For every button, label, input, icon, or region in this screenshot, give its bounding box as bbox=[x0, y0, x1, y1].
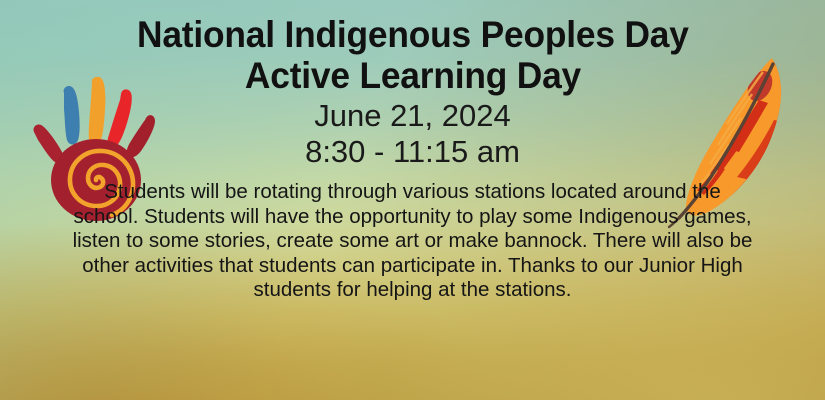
event-description: Students will be rotating through variou… bbox=[0, 180, 825, 303]
description-line-1: Students will be rotating through variou… bbox=[8, 180, 817, 205]
description-line-4: other activities that students can parti… bbox=[8, 254, 817, 279]
page-title-line-2: Active Learning Day bbox=[244, 55, 580, 96]
event-date: June 21, 2024 bbox=[314, 98, 511, 134]
description-line-3: listen to some stories, create some art … bbox=[8, 229, 817, 254]
event-time: 8:30 - 11:15 am bbox=[305, 134, 520, 170]
poster-content: National Indigenous Peoples Day Active L… bbox=[0, 0, 825, 400]
description-line-5: students for helping at the stations. bbox=[8, 278, 817, 303]
description-line-2: school. Students will have the opportuni… bbox=[8, 205, 817, 230]
page-title-line-1: National Indigenous Peoples Day bbox=[137, 14, 689, 55]
poster-canvas: National Indigenous Peoples Day Active L… bbox=[0, 0, 825, 400]
